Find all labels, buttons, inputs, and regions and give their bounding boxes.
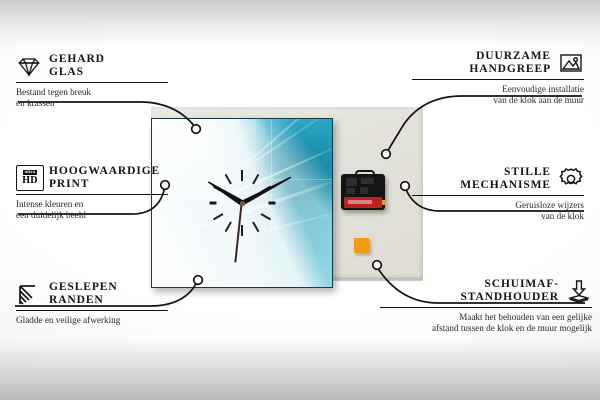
- feature-subtitle: en krassen: [16, 98, 186, 109]
- feature-divider: [412, 195, 584, 196]
- feature-hoogwaardige-print: ultra HD HOOGWAARDIGE PRINT Intense kleu…: [16, 165, 196, 221]
- feature-gehard-glas: GEHARD GLAS Bestand tegen breuk en krass…: [16, 53, 186, 109]
- beveled-edges-icon: [16, 281, 42, 307]
- feature-header: GESLEPEN RANDEN: [16, 281, 196, 307]
- feature-title: GESLEPEN RANDEN: [49, 281, 118, 307]
- feature-title: DUURZAME HANDGREEP: [469, 50, 551, 76]
- foam-spacer-pad: [354, 238, 369, 253]
- background-top-fade: [0, 0, 600, 46]
- feature-header: GEHARD GLAS: [16, 53, 186, 79]
- feature-geslepen-randen: GESLEPEN RANDEN Gladde en veilige afwerk…: [16, 281, 196, 326]
- ultra-hd-icon: ultra HD: [16, 165, 42, 191]
- movement-detail: [361, 178, 374, 184]
- hands-center-cap: [240, 201, 245, 206]
- movement-body: [341, 174, 385, 210]
- gear-icon: [558, 166, 584, 192]
- framed-picture-icon: [558, 50, 584, 76]
- background-bottom-fade: [0, 340, 600, 400]
- feature-subtitle: afstand tussen de klok en de muur mogeli…: [362, 323, 592, 334]
- diamond-icon: [16, 53, 42, 79]
- feature-subtitle: Geruisloze wijzers: [394, 200, 584, 211]
- feature-subtitle: van de klok: [394, 211, 584, 222]
- feature-schuimaf-standhouder: SCHUIMAF- STANDHOUDER Maakt het behouden…: [362, 278, 592, 334]
- feature-subtitle: van de klok aan de muur: [394, 95, 584, 106]
- feature-divider: [16, 310, 168, 311]
- feature-subtitle: Maakt het behouden van een gelijke: [362, 312, 592, 323]
- press-down-pad-icon: [566, 278, 592, 304]
- feature-title: STILLE MECHANISME: [460, 166, 551, 192]
- feature-subtitle: Bestand tegen breuk: [16, 87, 186, 98]
- feature-divider: [16, 194, 168, 195]
- movement-detail: [360, 187, 368, 194]
- feature-title: GEHARD GLAS: [49, 53, 105, 79]
- feature-title: SCHUIMAF- STANDHOUDER: [460, 278, 559, 304]
- feature-header: STILLE MECHANISME: [394, 166, 584, 192]
- feature-stille-mechanisme: STILLE MECHANISME Geruisloze wijzers van…: [394, 166, 584, 222]
- feature-subtitle: Intense kleuren en: [16, 199, 196, 210]
- clock-movement: [341, 170, 385, 210]
- feature-divider: [412, 79, 584, 80]
- movement-detail: [346, 188, 355, 194]
- feature-header: DUURZAME HANDGREEP: [394, 50, 584, 76]
- feature-subtitle: een duidelijk beeld: [16, 210, 196, 221]
- feature-header: ultra HD HOOGWAARDIGE PRINT: [16, 165, 196, 191]
- feature-divider: [380, 307, 592, 308]
- battery-label: [348, 200, 372, 204]
- feature-subtitle: Gladde en veilige afwerking: [16, 315, 196, 326]
- feature-subtitle: Eenvoudige installatie: [394, 84, 584, 95]
- battery: [344, 197, 382, 208]
- feature-title: HOOGWAARDIGE PRINT: [49, 165, 160, 191]
- movement-detail: [346, 178, 357, 186]
- feature-divider: [16, 82, 168, 83]
- infographic-canvas: GEHARD GLAS Bestand tegen breuk en krass…: [0, 0, 600, 400]
- feature-duurzame-handgreep: DUURZAME HANDGREEP Eenvoudige installati…: [394, 50, 584, 106]
- feature-header: SCHUIMAF- STANDHOUDER: [362, 278, 592, 304]
